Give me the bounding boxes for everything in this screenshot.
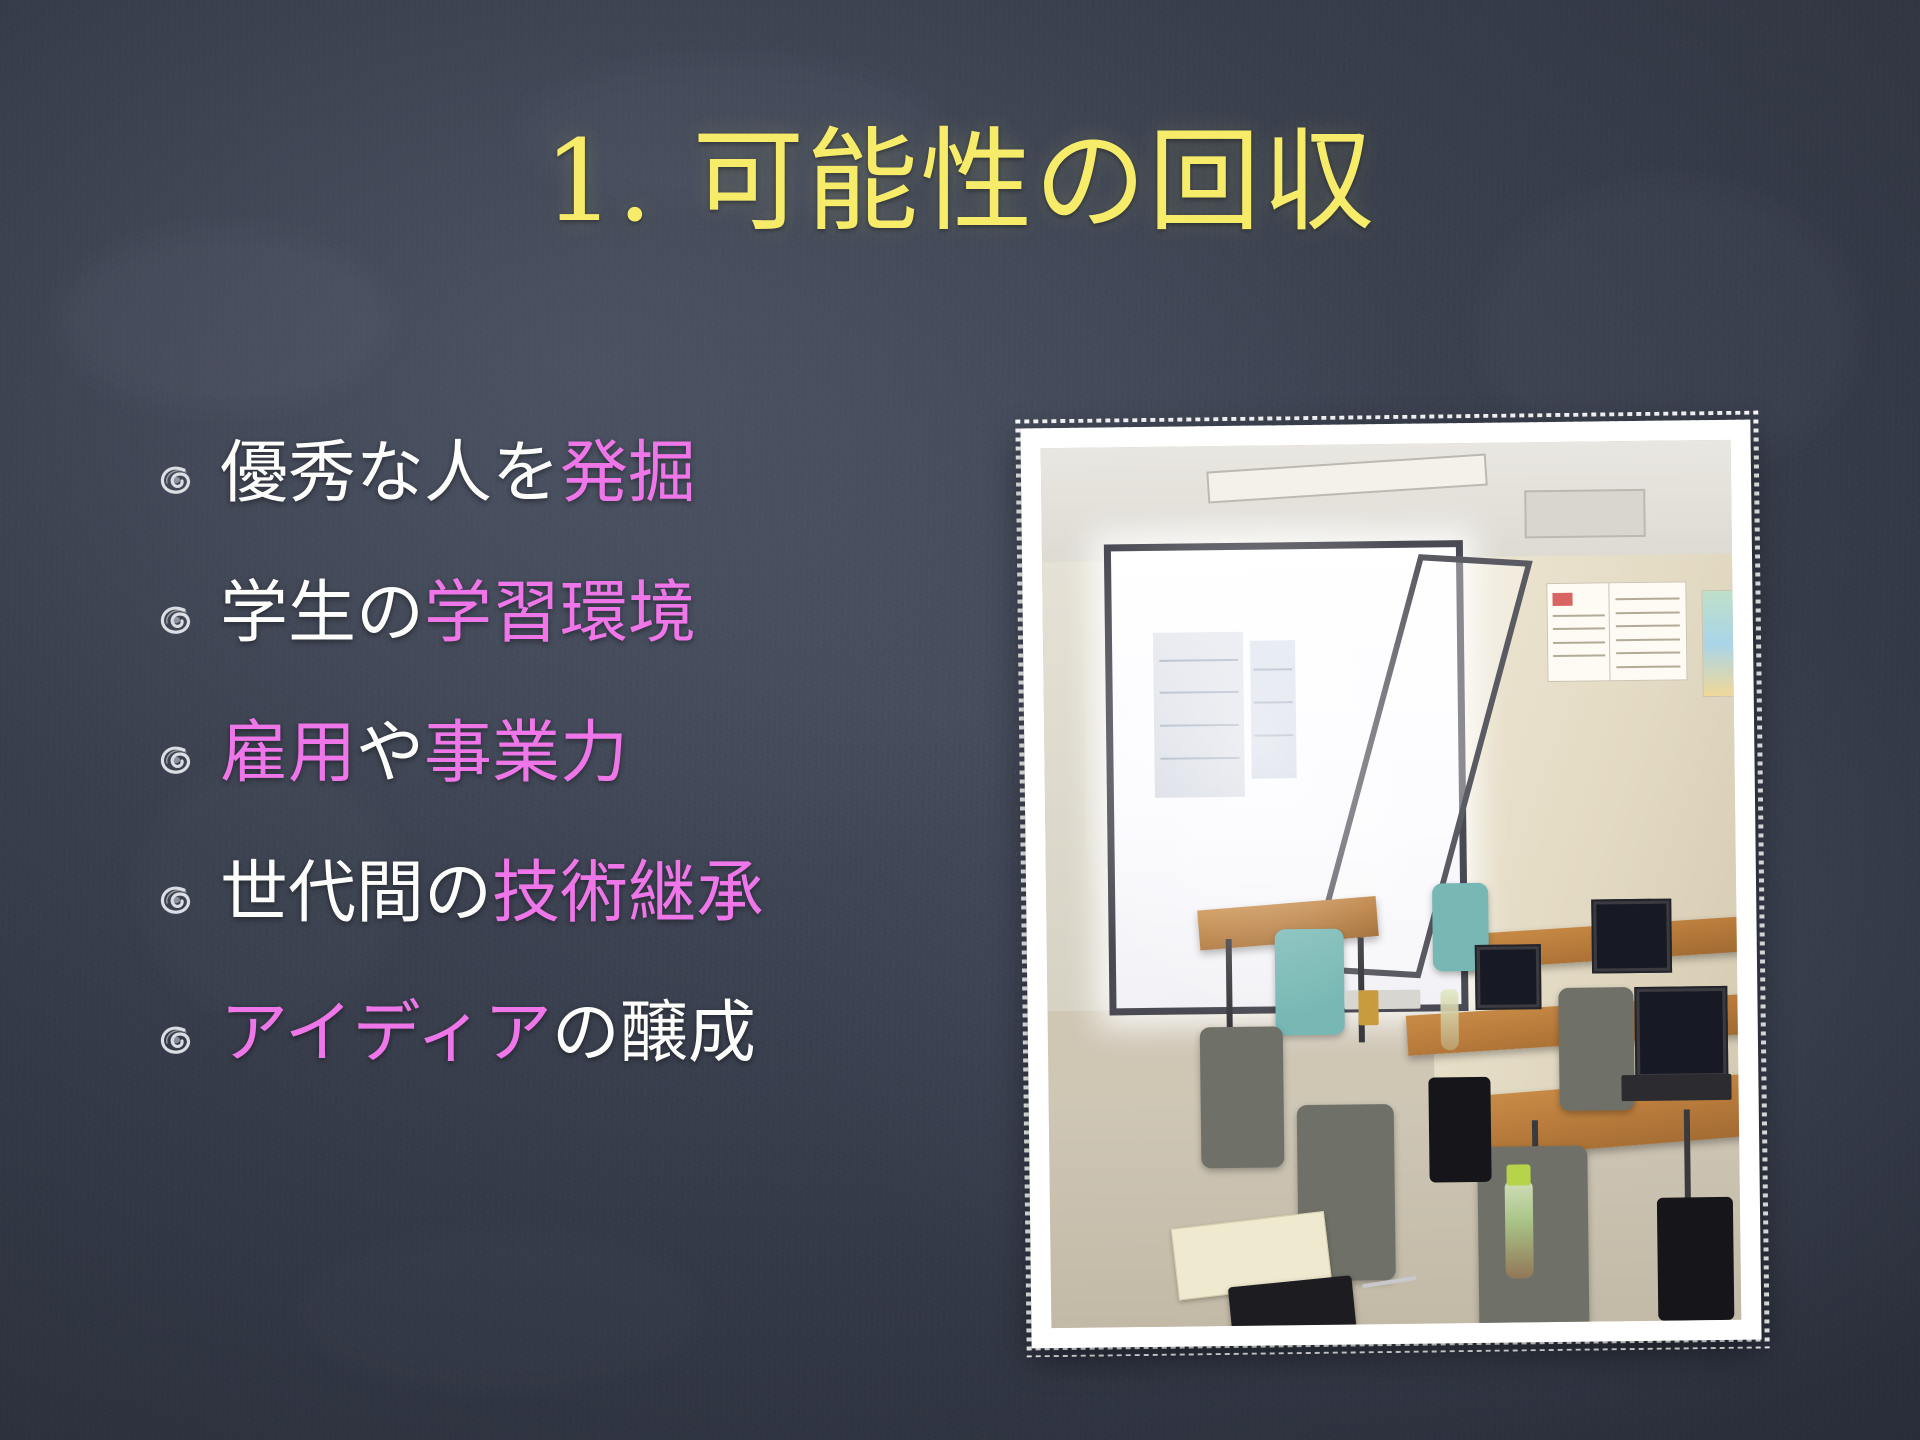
presentation-slide: 1. 可能性の回収 優秀な人を発掘 (0, 0, 1920, 1440)
list-item-text: 優秀な人を発掘 (220, 440, 696, 508)
cup (1358, 990, 1379, 1025)
bag (1428, 1076, 1491, 1182)
chalk-swirl-bullet-icon (150, 1010, 206, 1066)
chair (1477, 1146, 1590, 1329)
list-item-segment: の醸成 (552, 994, 756, 1073)
slide-title: 1. 可能性の回収 (0, 118, 1920, 247)
list-item: 優秀な人を発掘 (150, 404, 840, 544)
list-item-segment: 学生の (220, 574, 424, 653)
chalk-smudge (300, 1230, 700, 1390)
drink-bottle (1441, 989, 1460, 1051)
ceiling-vent (1524, 489, 1646, 538)
list-item-segment-accent: 発掘 (560, 434, 696, 513)
meeting-room-scene (1041, 440, 1742, 1328)
chair (1274, 929, 1344, 1035)
list-item-text: 世代間の技術継承 (220, 860, 764, 928)
bag (1657, 1197, 1734, 1321)
laptop (1475, 944, 1542, 1010)
list-item: 世代間の技術継承 (150, 824, 840, 964)
keyboard (1344, 989, 1420, 1009)
list-item-text: 学生の学習環境 (220, 580, 696, 648)
building-outside (1153, 632, 1245, 798)
list-item-segment-accent: 学習環境 (424, 574, 696, 653)
list-item-segment: や (356, 714, 424, 793)
bullet-list: 優秀な人を発掘 学生の学習環境 (150, 404, 840, 1104)
slide-photo (1020, 420, 1761, 1349)
laptop-keyboard (1621, 1073, 1732, 1101)
wall-poster (1546, 582, 1611, 682)
chalk-swirl-bullet-icon (150, 450, 206, 506)
chalk-smudge (60, 230, 390, 410)
chair (1200, 1026, 1285, 1168)
list-item: アイディアの醸成 (150, 964, 840, 1104)
photo-image (1041, 440, 1742, 1328)
list-item: 雇用や事業力 (150, 684, 840, 824)
list-item-text: 雇用や事業力 (220, 720, 628, 788)
chalk-swirl-bullet-icon (150, 590, 206, 646)
wall-poster (1608, 581, 1687, 681)
list-item: 学生の学習環境 (150, 544, 840, 684)
list-item-text: アイディアの醸成 (220, 1000, 756, 1068)
chalk-swirl-bullet-icon (150, 730, 206, 786)
laptop (1591, 898, 1672, 973)
bottle-cap (1507, 1164, 1531, 1185)
list-item-segment-accent: 事業力 (424, 714, 628, 793)
drink-bottle (1505, 1181, 1534, 1278)
list-item-segment: 優秀な人を (220, 434, 560, 513)
laptop (1634, 985, 1729, 1078)
list-item-segment: 世代間の (220, 854, 492, 933)
list-item-segment-accent: 技術継承 (492, 854, 764, 933)
chalk-swirl-bullet-icon (150, 870, 206, 926)
list-item-segment-accent: アイディア (220, 994, 552, 1073)
building-outside-2 (1250, 640, 1297, 778)
list-item-segment-accent: 雇用 (220, 714, 356, 793)
